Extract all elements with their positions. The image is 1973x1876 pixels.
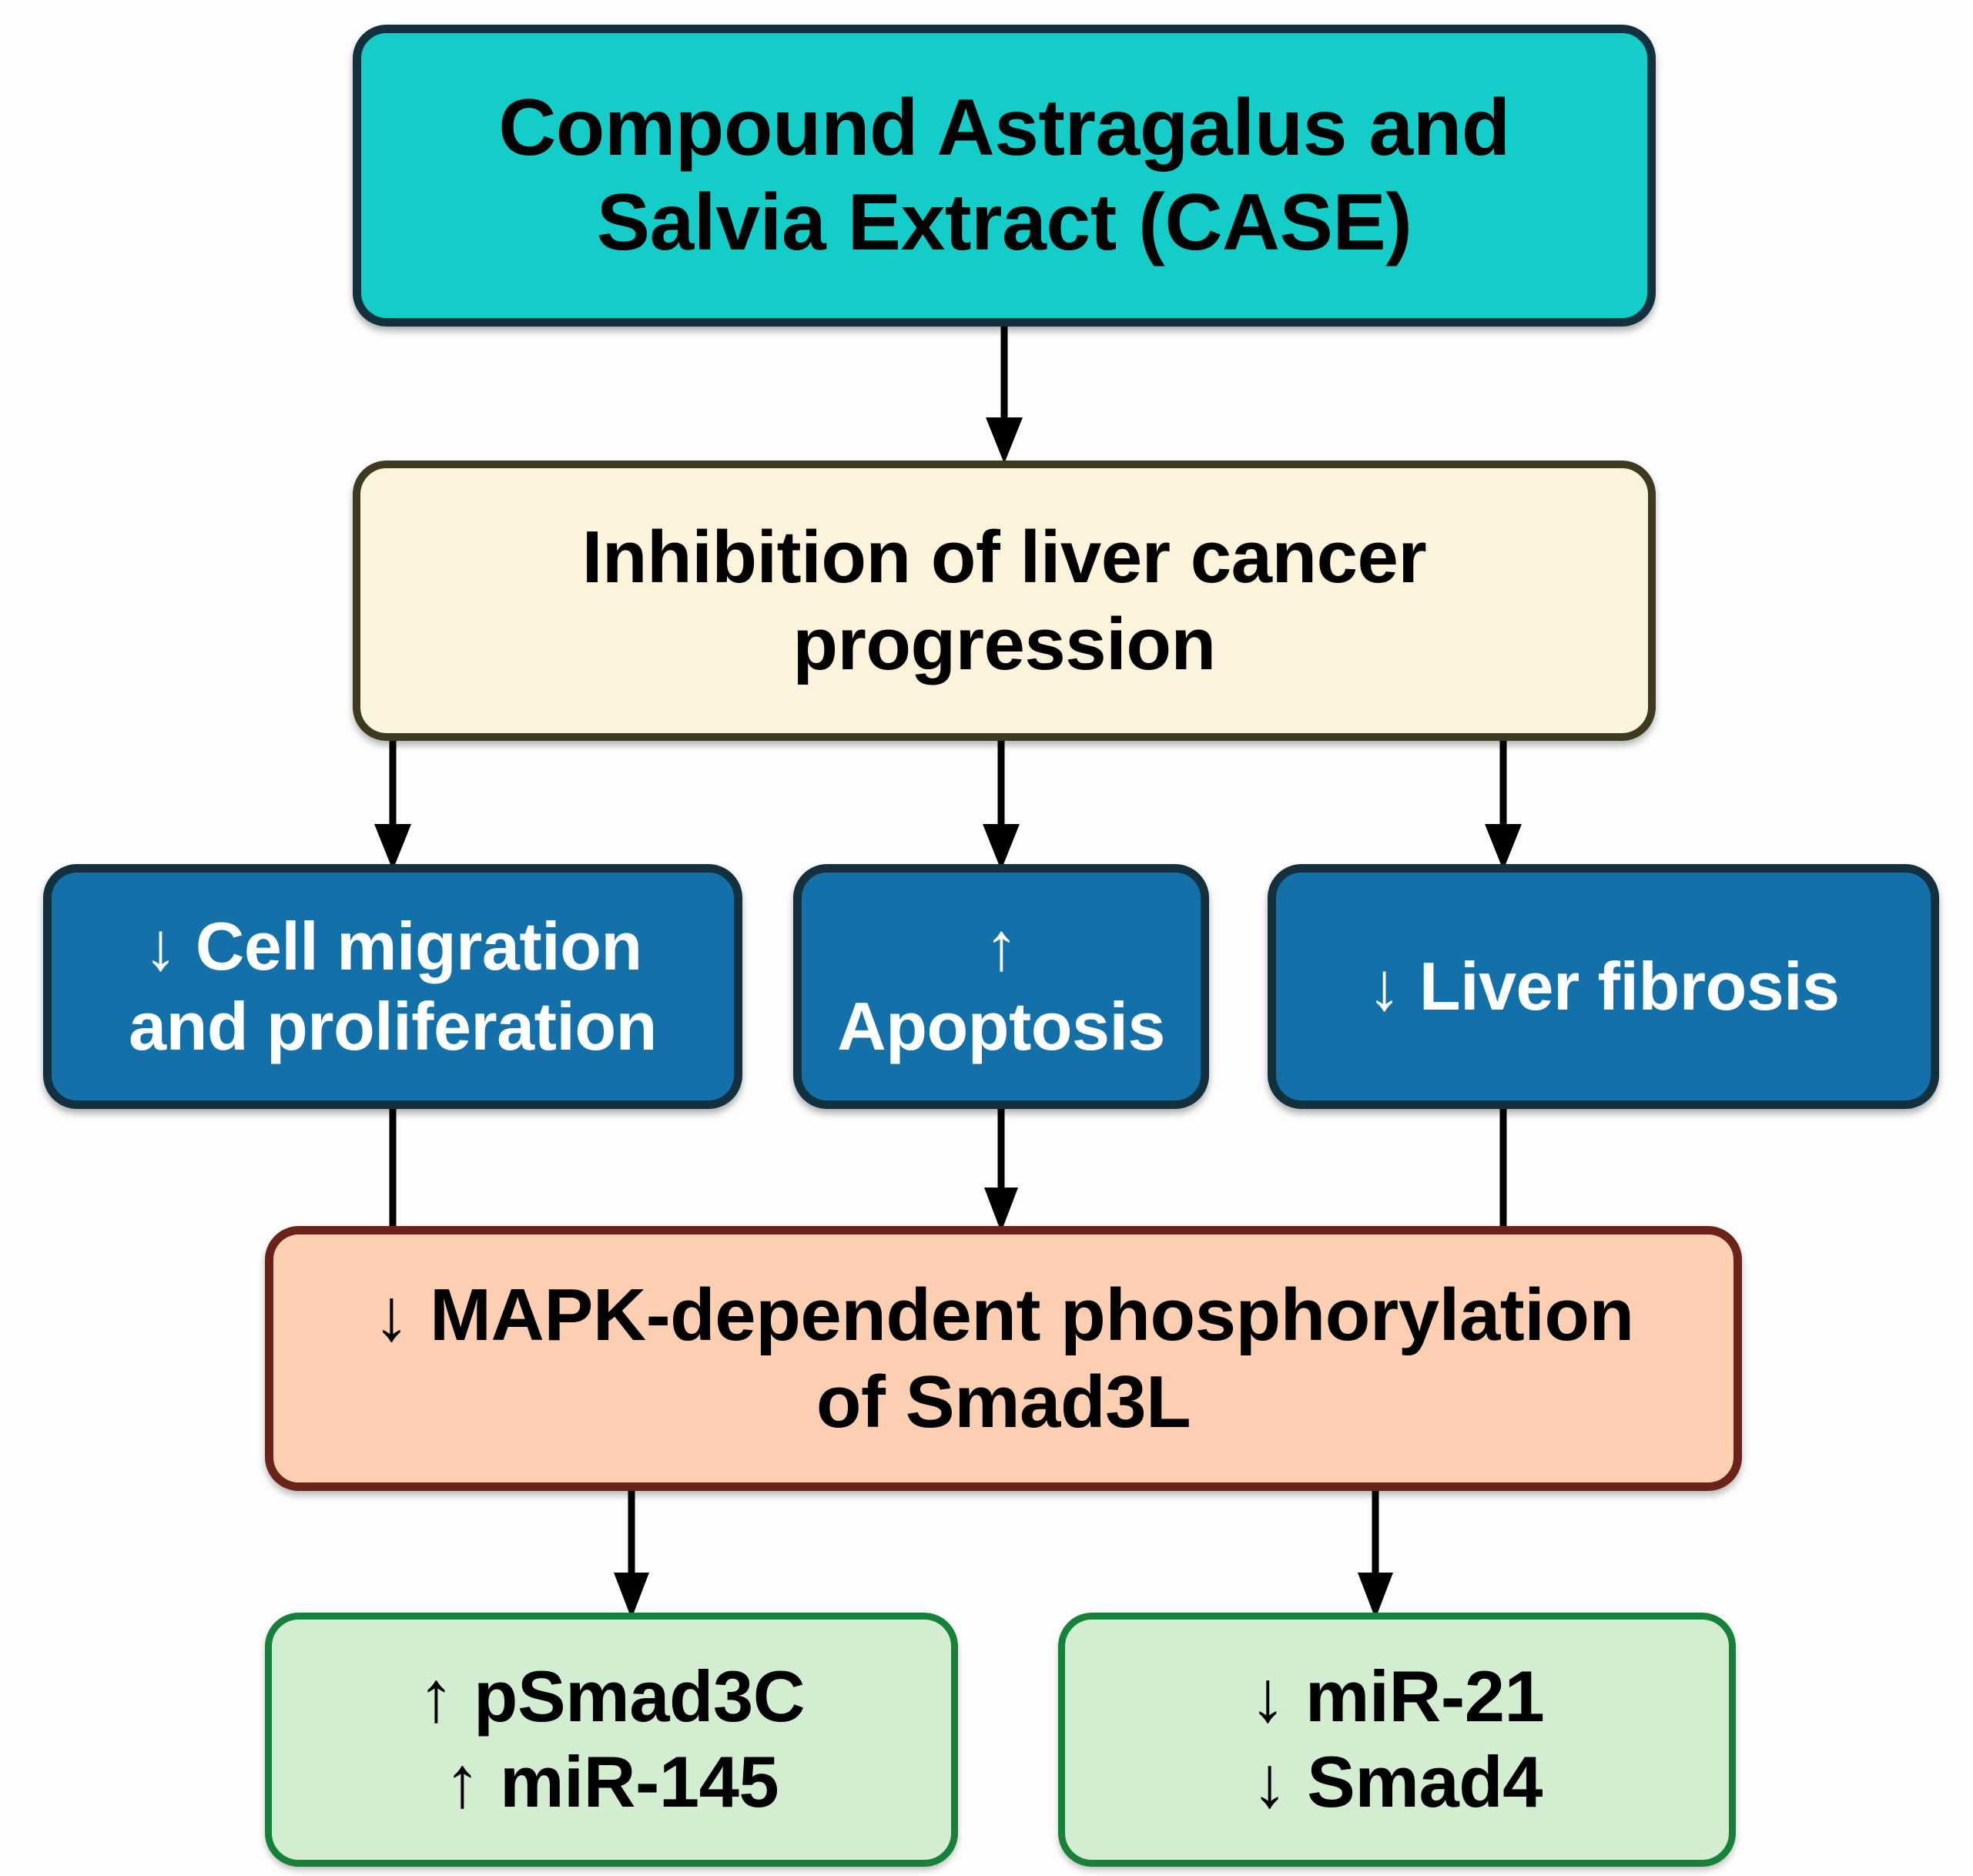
node-mapk-phosphorylation[interactable]: ↓ MAPK-dependent phosphorylation of Smad…	[265, 1226, 1742, 1491]
node-upregulated-markers[interactable]: ↑ pSmad3C ↑ miR-145	[265, 1613, 958, 1867]
node-inhibition-label: Inhibition of liver cancer progression	[568, 514, 1441, 688]
connector-case-to-inhibition	[981, 323, 1027, 467]
node-case[interactable]: Compound Astragalus and Salvia Extract (…	[353, 25, 1656, 327]
node-inhibition[interactable]: Inhibition of liver cancer progression	[353, 461, 1656, 741]
node-liver-fibrosis-label: ↓ Liver fibrosis	[1353, 946, 1853, 1027]
connector-mapk-to-upregulated	[608, 1486, 655, 1622]
connector-inhibition-to-fibrosis	[1480, 736, 1526, 873]
node-apoptosis-label: ↑ Apoptosis	[802, 906, 1201, 1067]
connector-migration-to-mapk	[370, 1103, 416, 1235]
node-mapk-phosphorylation-label: ↓ MAPK-dependent phosphorylation of Smad…	[359, 1271, 1647, 1446]
connector-inhibition-to-apoptosis	[978, 736, 1024, 873]
connector-inhibition-to-migration	[370, 736, 416, 873]
connector-mapk-to-downregulated	[1352, 1486, 1399, 1622]
connector-apoptosis-to-mapk	[978, 1103, 1024, 1235]
node-upregulated-markers-label: ↑ pSmad3C ↑ miR-145	[404, 1654, 819, 1825]
node-cell-migration[interactable]: ↓ Cell migration and proliferation	[43, 864, 742, 1109]
node-downregulated-markers-label: ↓ miR-21 ↓ Smad4	[1236, 1654, 1559, 1825]
node-cell-migration-label: ↓ Cell migration and proliferation	[115, 906, 671, 1067]
node-liver-fibrosis[interactable]: ↓ Liver fibrosis	[1268, 864, 1939, 1109]
node-downregulated-markers[interactable]: ↓ miR-21 ↓ Smad4	[1058, 1613, 1736, 1867]
connector-fibrosis-to-mapk	[1480, 1103, 1526, 1235]
node-case-label: Compound Astragalus and Salvia Extract (…	[484, 81, 1524, 270]
flowchart-canvas: Compound Astragalus and Salvia Extract (…	[0, 0, 1973, 1876]
node-apoptosis[interactable]: ↑ Apoptosis	[793, 864, 1209, 1109]
